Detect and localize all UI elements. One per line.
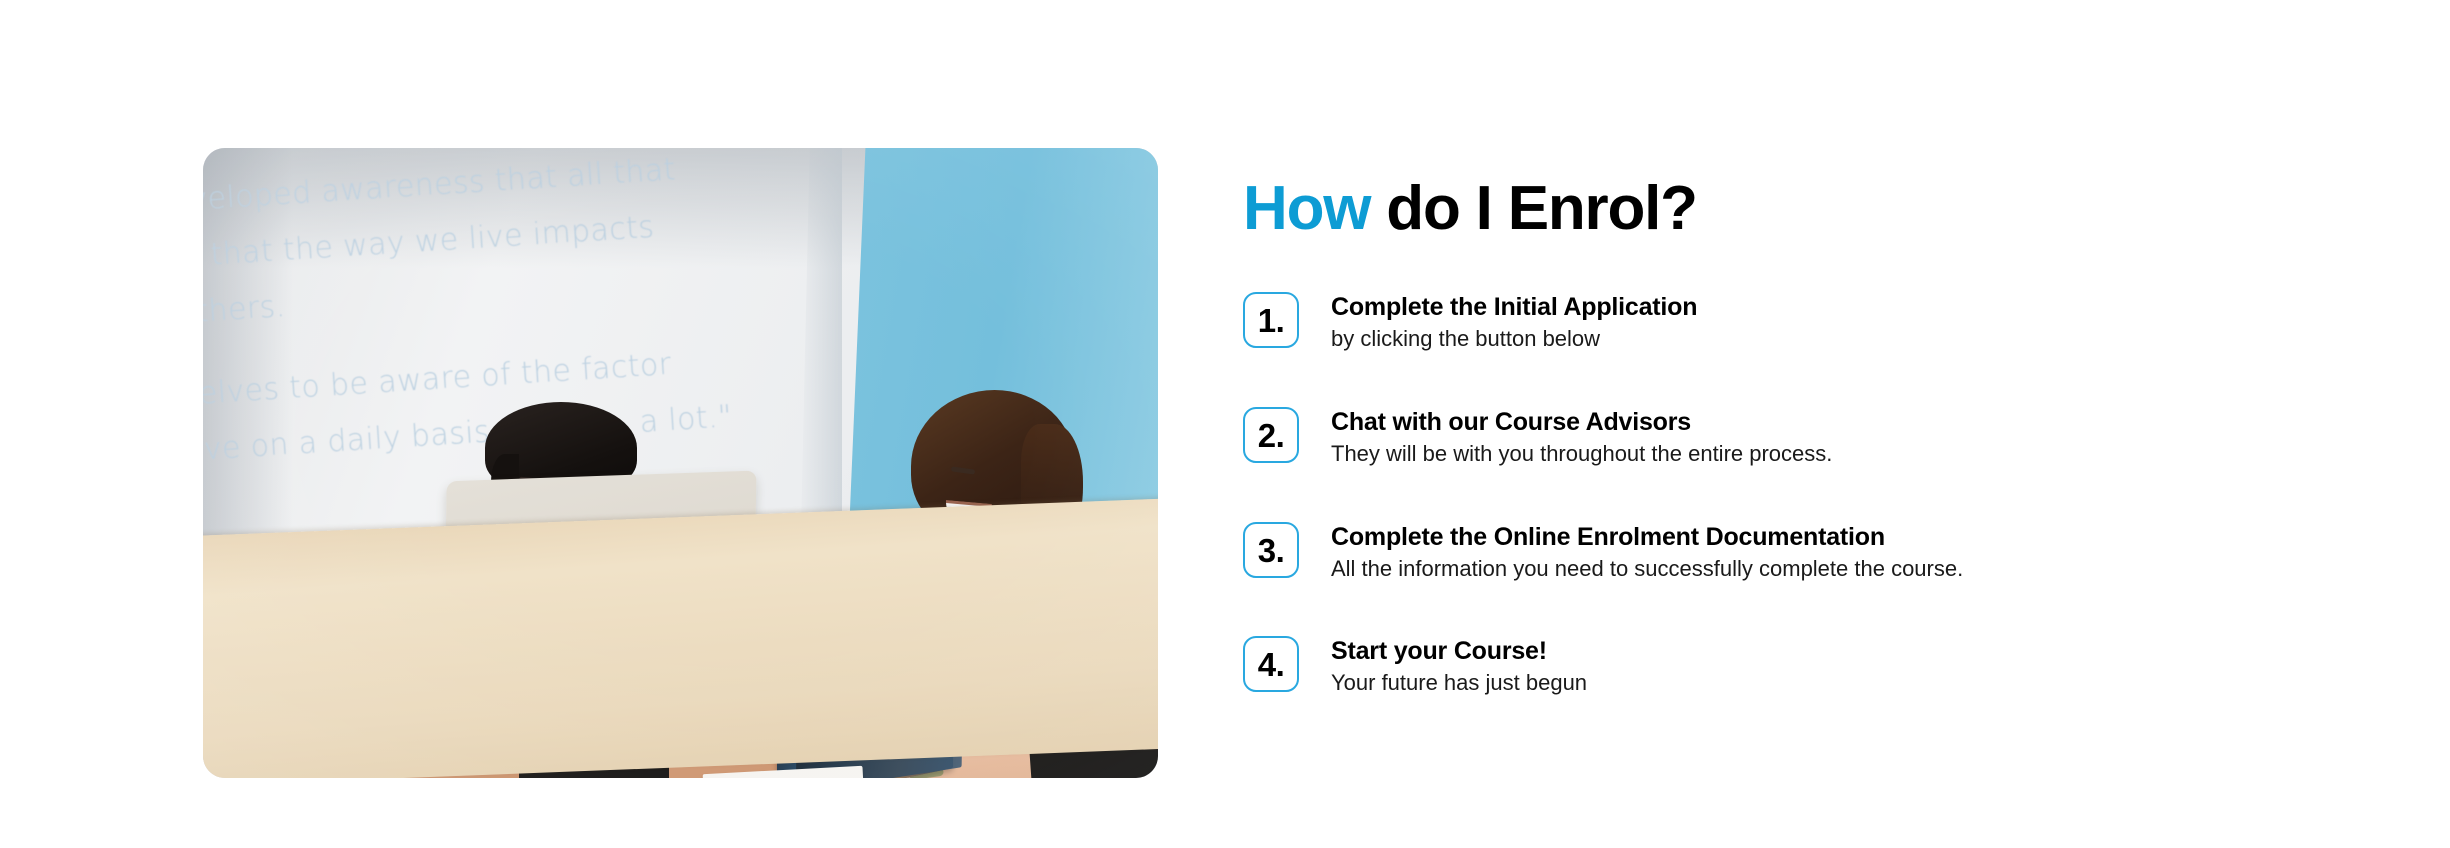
step-number-badge-2: 2.	[1243, 407, 1299, 463]
step-text-2: Chat with our Course Advisors They will …	[1331, 407, 1832, 468]
step-subtitle-3: All the information you need to successf…	[1331, 556, 1963, 583]
step-number-badge-4: 4.	[1243, 636, 1299, 692]
page-title-highlight: How	[1243, 174, 1370, 243]
step-item-2: 2. Chat with our Course Advisors They wi…	[1243, 407, 2383, 468]
step-title-4: Start your Course!	[1331, 637, 1587, 666]
step-title-1: Complete the Initial Application	[1331, 293, 1697, 322]
page-title-rest: do I Enrol?	[1370, 174, 1697, 243]
step-subtitle-4: Your future has just begun	[1331, 670, 1587, 697]
step-text-4: Start your Course! Your future has just …	[1331, 636, 1587, 697]
steps-list: 1. Complete the Initial Application by c…	[1243, 292, 2383, 697]
step-subtitle-1: by clicking the button below	[1331, 326, 1697, 353]
step-item-4: 4. Start your Course! Your future has ju…	[1243, 636, 2383, 697]
enrolment-steps-page: eveloped awareness that all that s; that…	[0, 0, 2450, 848]
enrolment-photo: eveloped awareness that all that s; that…	[203, 148, 1158, 778]
page-title: How do I Enrol?	[1243, 178, 2383, 240]
enrolment-content: How do I Enrol? 1. Complete the Initial …	[1243, 178, 2383, 697]
step-item-3: 3. Complete the Online Enrolment Documen…	[1243, 522, 2383, 583]
step-number-badge-1: 1.	[1243, 292, 1299, 348]
step-title-3: Complete the Online Enrolment Documentat…	[1331, 523, 1963, 552]
step-subtitle-2: They will be with you throughout the ent…	[1331, 441, 1832, 468]
step-number-badge-3: 3.	[1243, 522, 1299, 578]
table-top	[203, 495, 1158, 778]
step-text-1: Complete the Initial Application by clic…	[1331, 292, 1697, 353]
step-item-1: 1. Complete the Initial Application by c…	[1243, 292, 2383, 353]
step-title-2: Chat with our Course Advisors	[1331, 408, 1832, 437]
step-text-3: Complete the Online Enrolment Documentat…	[1331, 522, 1963, 583]
